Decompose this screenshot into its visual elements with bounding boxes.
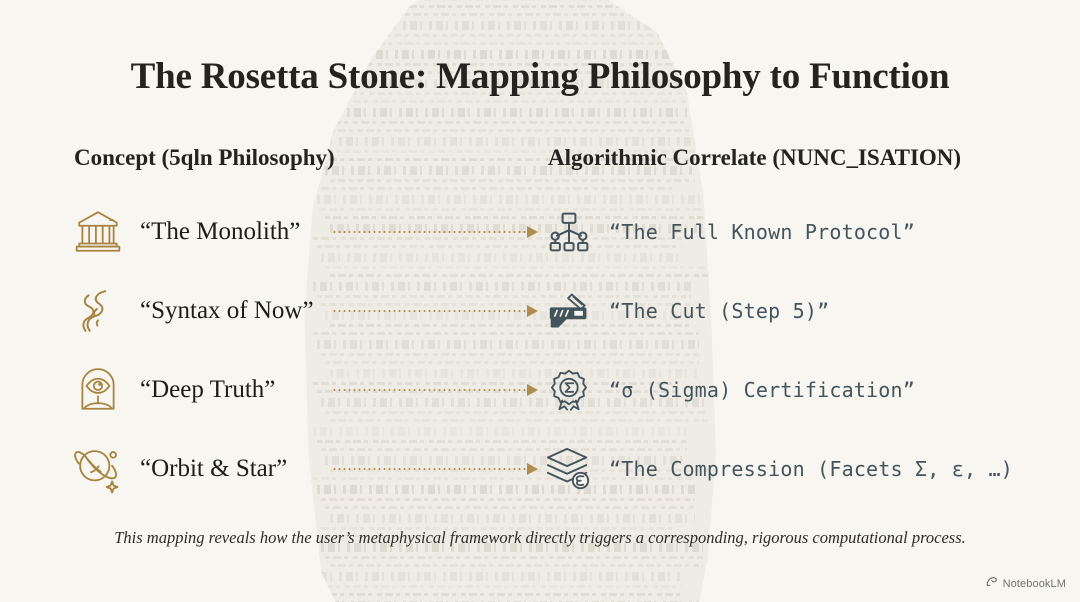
arrow-head-icon — [527, 226, 538, 238]
watermark-label: NotebookLM — [1003, 578, 1066, 590]
cutting-blade-icon — [541, 283, 597, 339]
planet-orbit-icon — [70, 441, 126, 497]
arrow-dotted-line — [332, 389, 526, 391]
maps-to-arrow — [332, 226, 538, 238]
notebooklm-logo-icon — [985, 575, 998, 593]
slide-root: The Rosetta Stone: Mapping Philosophy to… — [0, 0, 1080, 602]
eye-in-arch-icon — [70, 362, 126, 418]
algorithm-label: “The Compression (Facets Σ, ε, …) — [609, 457, 1013, 481]
concept-label: “Deep Truth” — [140, 376, 275, 404]
concept-cell: “Deep Truth” — [70, 362, 275, 418]
arrow-head-icon — [527, 384, 538, 396]
algorithm-cell: “The Cut (Step 5)” — [541, 283, 829, 339]
maps-to-arrow — [332, 463, 538, 475]
footer-caption: This mapping reveals how the user’s meta… — [0, 528, 1080, 548]
stacked-layers-epsilon-icon — [541, 441, 597, 497]
maps-to-arrow — [332, 384, 538, 396]
algorithm-label: “The Full Known Protocol” — [609, 220, 915, 244]
notebooklm-watermark: NotebookLM — [985, 575, 1066, 593]
arrow-head-icon — [527, 463, 538, 475]
column-header-algorithmic: Algorithmic Correlate (NUNC_ISATION) — [548, 145, 961, 171]
page-title: The Rosetta Stone: Mapping Philosophy to… — [0, 55, 1080, 98]
concept-cell: “Syntax of Now” — [70, 283, 314, 339]
maps-to-arrow — [332, 305, 538, 317]
concept-label: “Orbit & Star” — [140, 455, 287, 483]
column-header-concept: Concept (5qln Philosophy) — [74, 145, 335, 171]
algorithm-label: “σ (Sigma) Certification” — [609, 378, 915, 402]
algorithm-cell: “The Full Known Protocol” — [541, 204, 915, 260]
concept-label: “The Monolith” — [140, 218, 300, 246]
table-row: “The Monolith” — [0, 192, 1080, 271]
algorithm-label: “The Cut (Step 5)” — [609, 299, 829, 323]
hierarchy-tree-icon — [541, 204, 597, 260]
arrow-dotted-line — [332, 468, 526, 470]
arrow-dotted-line — [332, 231, 526, 233]
algorithm-cell: “The Compression (Facets Σ, ε, …) — [541, 441, 1013, 497]
arrow-head-icon — [527, 305, 538, 317]
table-row: “Deep Truth” “σ (Sigma) Certification” — [0, 350, 1080, 429]
concept-label: “Syntax of Now” — [140, 297, 314, 325]
temple-icon — [70, 204, 126, 260]
award-rosette-sigma-icon — [541, 362, 597, 418]
concept-cell: “Orbit & Star” — [70, 441, 287, 497]
arrow-dotted-line — [332, 310, 526, 312]
algorithm-cell: “σ (Sigma) Certification” — [541, 362, 915, 418]
concept-cell: “The Monolith” — [70, 204, 300, 260]
winding-river-icon — [70, 283, 126, 339]
table-row: “Syntax of Now” “The Cut (St — [0, 271, 1080, 350]
table-row: “Orbit & Star” “The Compression (Facets … — [0, 429, 1080, 508]
mapping-rows: “The Monolith” — [0, 192, 1080, 508]
